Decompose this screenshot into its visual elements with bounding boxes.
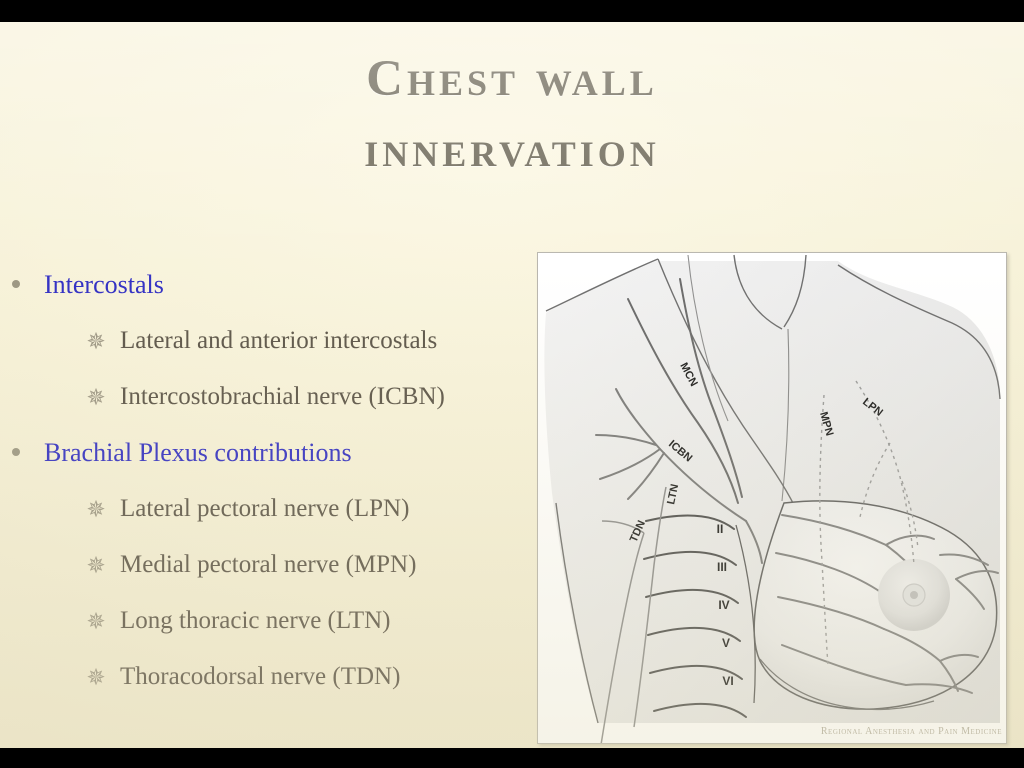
bullet-label: Lateral pectoral nerve (LPN): [120, 494, 409, 524]
list-item: ✵ Thoracodorsal nerve (TDN): [0, 662, 520, 718]
dot-bullet-icon: [12, 280, 20, 288]
bullet-list: Intercostals ✵ Lateral and anterior inte…: [0, 270, 520, 718]
level-label-2: II: [717, 522, 724, 536]
dot-bullet-icon: [12, 448, 20, 456]
slide-stage: Chest wall innervation Intercostals ✵ La…: [0, 0, 1024, 768]
list-item: Brachial Plexus contributions: [0, 438, 520, 494]
list-item: ✵ Medial pectoral nerve (MPN): [0, 550, 520, 606]
asterisk-bullet-icon: ✵: [84, 330, 108, 353]
bullet-label: Long thoracic nerve (LTN): [120, 606, 391, 636]
anatomy-figure: MCN ICBN MPN LPN LTN TDN II III IV V VI …: [537, 252, 1007, 744]
asterisk-bullet-icon: ✵: [84, 666, 108, 689]
list-item: ✵ Long thoracic nerve (LTN): [0, 606, 520, 662]
list-item: Intercostals: [0, 270, 520, 326]
level-label-5: V: [722, 636, 730, 650]
page-title: Chest wall innervation: [0, 44, 1024, 186]
asterisk-bullet-icon: ✵: [84, 498, 108, 521]
asterisk-bullet-icon: ✵: [84, 386, 108, 409]
bullet-label: Intercostals: [44, 270, 164, 300]
title-line-2: innervation: [0, 115, 1024, 186]
slide-canvas: Chest wall innervation Intercostals ✵ La…: [0, 22, 1024, 748]
title-line-1: Chest wall: [0, 44, 1024, 115]
level-label-3: III: [717, 560, 727, 574]
asterisk-bullet-icon: ✵: [84, 610, 108, 633]
chest-wall-innervation-diagram: MCN ICBN MPN LPN LTN TDN II III IV V VI: [538, 253, 1006, 743]
bullet-label: Intercostobrachial nerve (ICBN): [120, 382, 445, 412]
bullet-label: Brachial Plexus contributions: [44, 438, 352, 468]
list-item: ✵ Lateral and anterior intercostals: [0, 326, 520, 382]
bullet-label: Thoracodorsal nerve (TDN): [120, 662, 400, 692]
level-label-6: VI: [722, 674, 733, 688]
bullet-label: Medial pectoral nerve (MPN): [120, 550, 416, 580]
figure-credit-watermark: Regional Anesthesia and Pain Medicine: [821, 726, 1002, 737]
list-item: ✵ Lateral pectoral nerve (LPN): [0, 494, 520, 550]
list-item: ✵ Intercostobrachial nerve (ICBN): [0, 382, 520, 438]
level-label-4: IV: [718, 598, 729, 612]
bullet-label: Lateral and anterior intercostals: [120, 326, 437, 356]
asterisk-bullet-icon: ✵: [84, 554, 108, 577]
nipple-areola: [878, 559, 950, 631]
